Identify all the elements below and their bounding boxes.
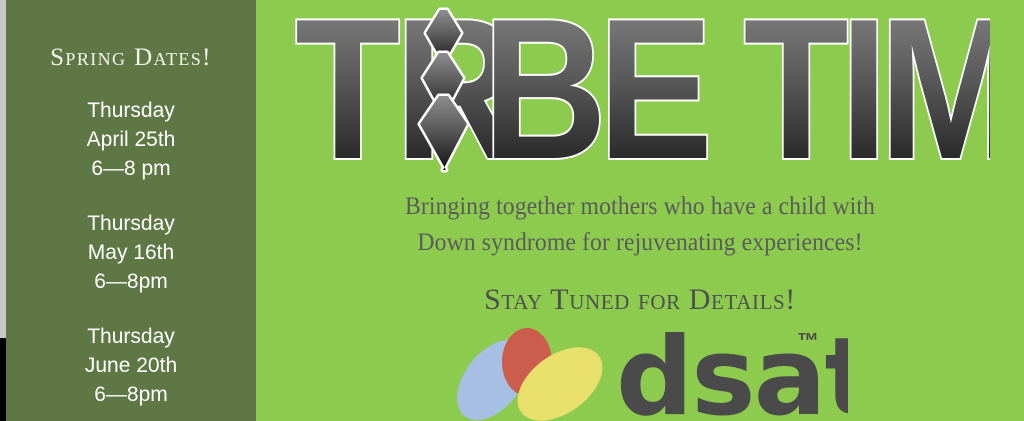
date-time: 6—8pm	[6, 380, 256, 409]
date-entry: Thursday June 20th 6—8pm	[6, 322, 256, 409]
date-date: April 25th	[6, 125, 256, 154]
title-part-after-glyph: BE TIME	[483, 0, 990, 180]
date-entry: Thursday May 16th 6—8pm	[6, 209, 256, 296]
date-time: 6—8pm	[6, 267, 256, 296]
sidebar-heading: Spring Dates!	[6, 45, 256, 70]
tagline: Bringing together mothers who have a chi…	[283, 188, 997, 260]
date-day: Thursday	[6, 322, 256, 351]
date-entry: Thursday April 25th 6—8 pm	[6, 96, 256, 183]
date-day: Thursday	[6, 209, 256, 238]
stay-tuned-callout: Stay Tuned for Details!	[256, 283, 1024, 317]
date-time: 6—8 pm	[6, 154, 256, 183]
banner-graphic: Spring Dates! Thursday April 25th 6—8 pm…	[0, 0, 1024, 421]
dsat-logo-artwork: dsat ™	[448, 322, 848, 421]
dsat-petal-mark	[448, 327, 616, 421]
tagline-line-2: Down syndrome for rejuvenating experienc…	[283, 224, 997, 260]
trademark-symbol: ™	[797, 328, 819, 353]
main-green-panel: TR BE TIME Bringing together mothers who…	[256, 0, 1024, 421]
tagline-line-1: Bringing together mothers who have a chi…	[283, 188, 997, 224]
title-artwork: TR BE TIME	[290, 0, 990, 180]
dsat-logo: dsat ™	[448, 322, 848, 421]
date-day: Thursday	[6, 96, 256, 125]
banner-title: TR BE TIME	[256, 0, 1024, 184]
date-date: June 20th	[6, 351, 256, 380]
date-date: May 16th	[6, 238, 256, 267]
spring-dates-sidebar: Spring Dates! Thursday April 25th 6—8 pm…	[0, 0, 256, 421]
